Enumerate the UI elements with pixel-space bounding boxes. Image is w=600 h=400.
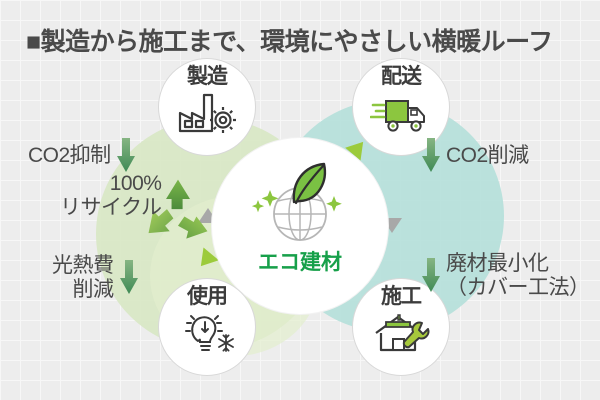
callout-energy-saving-line2: 削減 <box>52 278 114 302</box>
globe-leaf-icon <box>248 154 352 250</box>
page-title: ■製造から施工まで、環境にやさしい横暖ルーフ <box>26 22 553 58</box>
cycle-node-manufacture[interactable]: 製造 <box>158 58 256 156</box>
callout-waste-minimize-line2: （カバー工法） <box>446 276 590 300</box>
green-down-arrow-icon <box>420 258 442 294</box>
callout-co2-reduce-label: CO2削減 <box>446 144 529 168</box>
center-hub: エコ建材 <box>212 138 388 314</box>
callout-waste-minimize-line1: 廃材最小化 <box>446 252 590 276</box>
center-label: エコ建材 <box>258 246 342 276</box>
house-wrench-icon <box>370 309 432 355</box>
green-down-arrow-icon <box>115 138 137 174</box>
callout-co2-suppress: CO2抑制 <box>28 138 137 174</box>
callout-co2-reduce: CO2削減 <box>420 138 529 174</box>
cycle-node-use-label: 使用 <box>187 286 227 307</box>
callout-energy-saving: 光熱費 削減 <box>52 254 140 301</box>
factory-gear-icon <box>176 89 238 135</box>
callout-recycle: 100% リサイクル <box>60 172 161 219</box>
callout-co2-suppress-label: CO2抑制 <box>28 144 111 168</box>
lightbulb-snowflake-icon <box>176 309 238 355</box>
callout-recycle-line2: リサイクル <box>60 196 161 220</box>
cycle-node-delivery-label: 配送 <box>381 66 421 87</box>
infographic-canvas: ■製造から施工まで、環境にやさしい横暖ルーフ <box>0 0 600 400</box>
green-down-arrow-icon <box>420 138 442 174</box>
callout-recycle-line1: 100% <box>60 172 161 196</box>
cycle-node-manufacture-label: 製造 <box>187 66 227 87</box>
callout-waste-minimize: 廃材最小化 （カバー工法） <box>420 252 590 299</box>
delivery-truck-icon <box>370 89 432 135</box>
green-down-arrow-icon <box>118 260 140 296</box>
callout-energy-saving-line1: 光熱費 <box>52 254 114 278</box>
cycle-node-construct-label: 施工 <box>381 286 421 307</box>
cycle-node-use[interactable]: 使用 <box>158 278 256 376</box>
